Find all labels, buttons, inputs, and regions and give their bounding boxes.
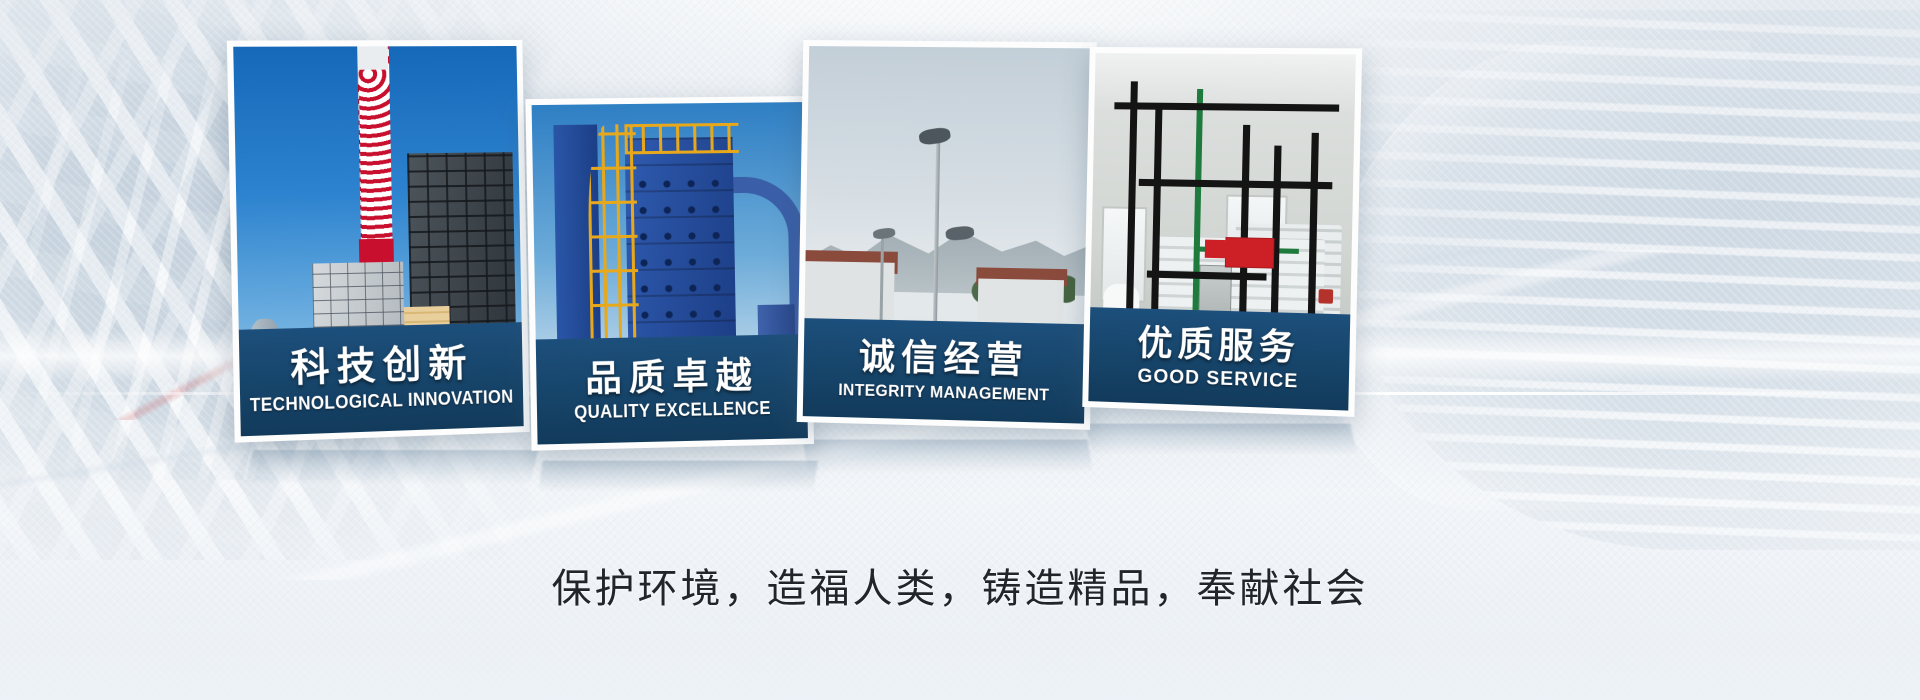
panel-title-cn: 优质服务 — [1137, 323, 1300, 368]
panel-label-band: 优质服务 GOOD SERVICE — [1088, 307, 1350, 410]
panel-title-en: GOOD SERVICE — [1137, 366, 1298, 394]
panel-inner: 科技创新 TECHNOLOGICAL INNOVATION — [233, 46, 523, 436]
panel-inner: 诚信经营 INTEGRITY MANAGEMENT — [803, 46, 1091, 424]
panel-title-cn: 诚信经营 — [858, 337, 1029, 382]
panel-title-cn: 品质卓越 — [585, 355, 759, 399]
value-panel-quality-excellence[interactable]: 品质卓越 QUALITY EXCELLENCE — [525, 96, 814, 451]
value-panel-integrity-management[interactable]: 诚信经营 INTEGRITY MANAGEMENT — [797, 40, 1097, 430]
value-panel-technological-innovation[interactable]: 科技创新 TECHNOLOGICAL INNOVATION — [227, 40, 530, 443]
banner-tagline: 保护环境，造福人类，铸造精品，奉献社会 — [0, 556, 1920, 614]
panel-label-band: 品质卓越 QUALITY EXCELLENCE — [536, 334, 808, 444]
panel-title-cn: 科技创新 — [290, 342, 474, 391]
panel-label-band: 科技创新 TECHNOLOGICAL INNOVATION — [239, 322, 524, 436]
panel-label-band: 诚信经营 INTEGRITY MANAGEMENT — [803, 318, 1086, 424]
panel-title-en: INTEGRITY MANAGEMENT — [838, 380, 1049, 405]
panel-title-en: QUALITY EXCELLENCE — [574, 398, 771, 424]
company-values-banner: 科技创新 TECHNOLOGICAL INNOVATION — [0, 0, 1920, 700]
panel-inner: 品质卓越 QUALITY EXCELLENCE — [532, 102, 808, 444]
panel-inner: 优质服务 GOOD SERVICE — [1088, 53, 1356, 411]
panel-title-en: TECHNOLOGICAL INNOVATION — [250, 387, 514, 417]
value-panel-good-service[interactable]: 优质服务 GOOD SERVICE — [1082, 47, 1362, 417]
